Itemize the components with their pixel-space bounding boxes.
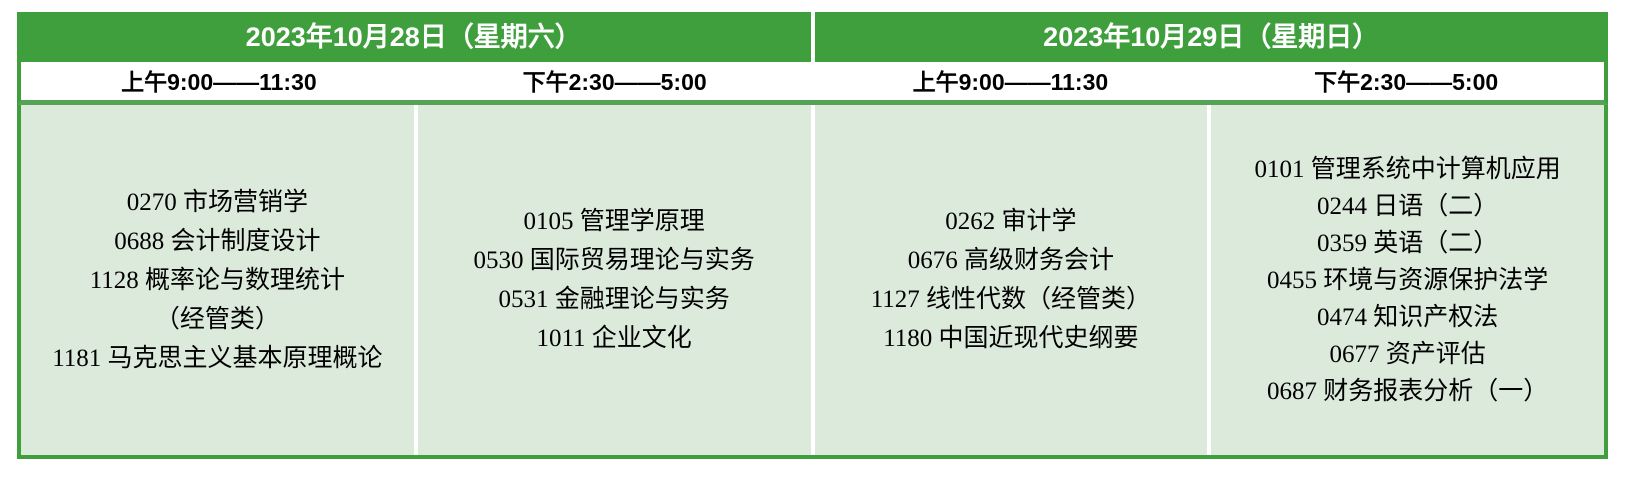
course-line: 1127 线性代数（经管类） <box>871 280 1151 319</box>
date-header-sunday: 2023年10月29日（星期日） <box>815 12 1609 62</box>
course-line: 0688 会计制度设计 <box>114 222 320 261</box>
course-line: 0244 日语（二） <box>1317 188 1498 225</box>
session-header-sat-afternoon: 下午2:30——5:00 <box>417 62 813 100</box>
course-line: 0676 高级财务会计 <box>908 241 1114 280</box>
course-line: 0105 管理学原理 <box>523 202 704 241</box>
date-header-row: 2023年10月28日（星期六） 2023年10月29日（星期日） <box>17 12 1608 62</box>
session-header-sun-afternoon: 下午2:30——5:00 <box>1208 62 1604 100</box>
course-line: 0474 知识产权法 <box>1317 299 1498 336</box>
exam-schedule-table: 2023年10月28日（星期六） 2023年10月29日（星期日） 上午9:00… <box>17 12 1608 464</box>
course-cell-sun-afternoon: 0101 管理系统中计算机应用 0244 日语（二） 0359 英语（二） 04… <box>1211 105 1604 455</box>
course-line: 0677 资产评估 <box>1329 336 1485 373</box>
course-line: 0531 金融理论与实务 <box>498 280 729 319</box>
session-header-row: 上午9:00——11:30 下午2:30——5:00 上午9:00——11:30… <box>17 62 1608 105</box>
course-line: 1128 概率论与数理统计 <box>90 261 345 300</box>
course-line: 0687 财务报表分析（一） <box>1267 373 1548 410</box>
course-line: （经管类） <box>155 300 280 339</box>
course-cell-sun-morning: 0262 审计学 0676 高级财务会计 1127 线性代数（经管类） 1180… <box>815 105 1212 455</box>
course-line: 0530 国际贸易理论与实务 <box>473 241 754 280</box>
course-line: 0101 管理系统中计算机应用 <box>1254 151 1560 188</box>
course-line: 0262 审计学 <box>945 202 1076 241</box>
course-cell-sat-morning: 0270 市场营销学 0688 会计制度设计 1128 概率论与数理统计 （经管… <box>21 105 418 455</box>
course-line: 1180 中国近现代史纲要 <box>883 319 1138 358</box>
course-line: 0359 英语（二） <box>1317 225 1498 262</box>
date-header-saturday: 2023年10月28日（星期六） <box>17 12 815 62</box>
course-line: 0270 市场营销学 <box>127 183 308 222</box>
course-line: 0455 环境与资源保护法学 <box>1267 262 1548 299</box>
course-line: 1181 马克思主义基本原理概论 <box>52 339 382 378</box>
session-header-sat-morning: 上午9:00——11:30 <box>21 62 417 100</box>
course-cell-sat-afternoon: 0105 管理学原理 0530 国际贸易理论与实务 0531 金融理论与实务 1… <box>418 105 815 455</box>
session-header-sun-morning: 上午9:00——11:30 <box>813 62 1209 100</box>
course-line: 1011 企业文化 <box>536 319 691 358</box>
course-body-row: 0270 市场营销学 0688 会计制度设计 1128 概率论与数理统计 （经管… <box>17 105 1608 459</box>
